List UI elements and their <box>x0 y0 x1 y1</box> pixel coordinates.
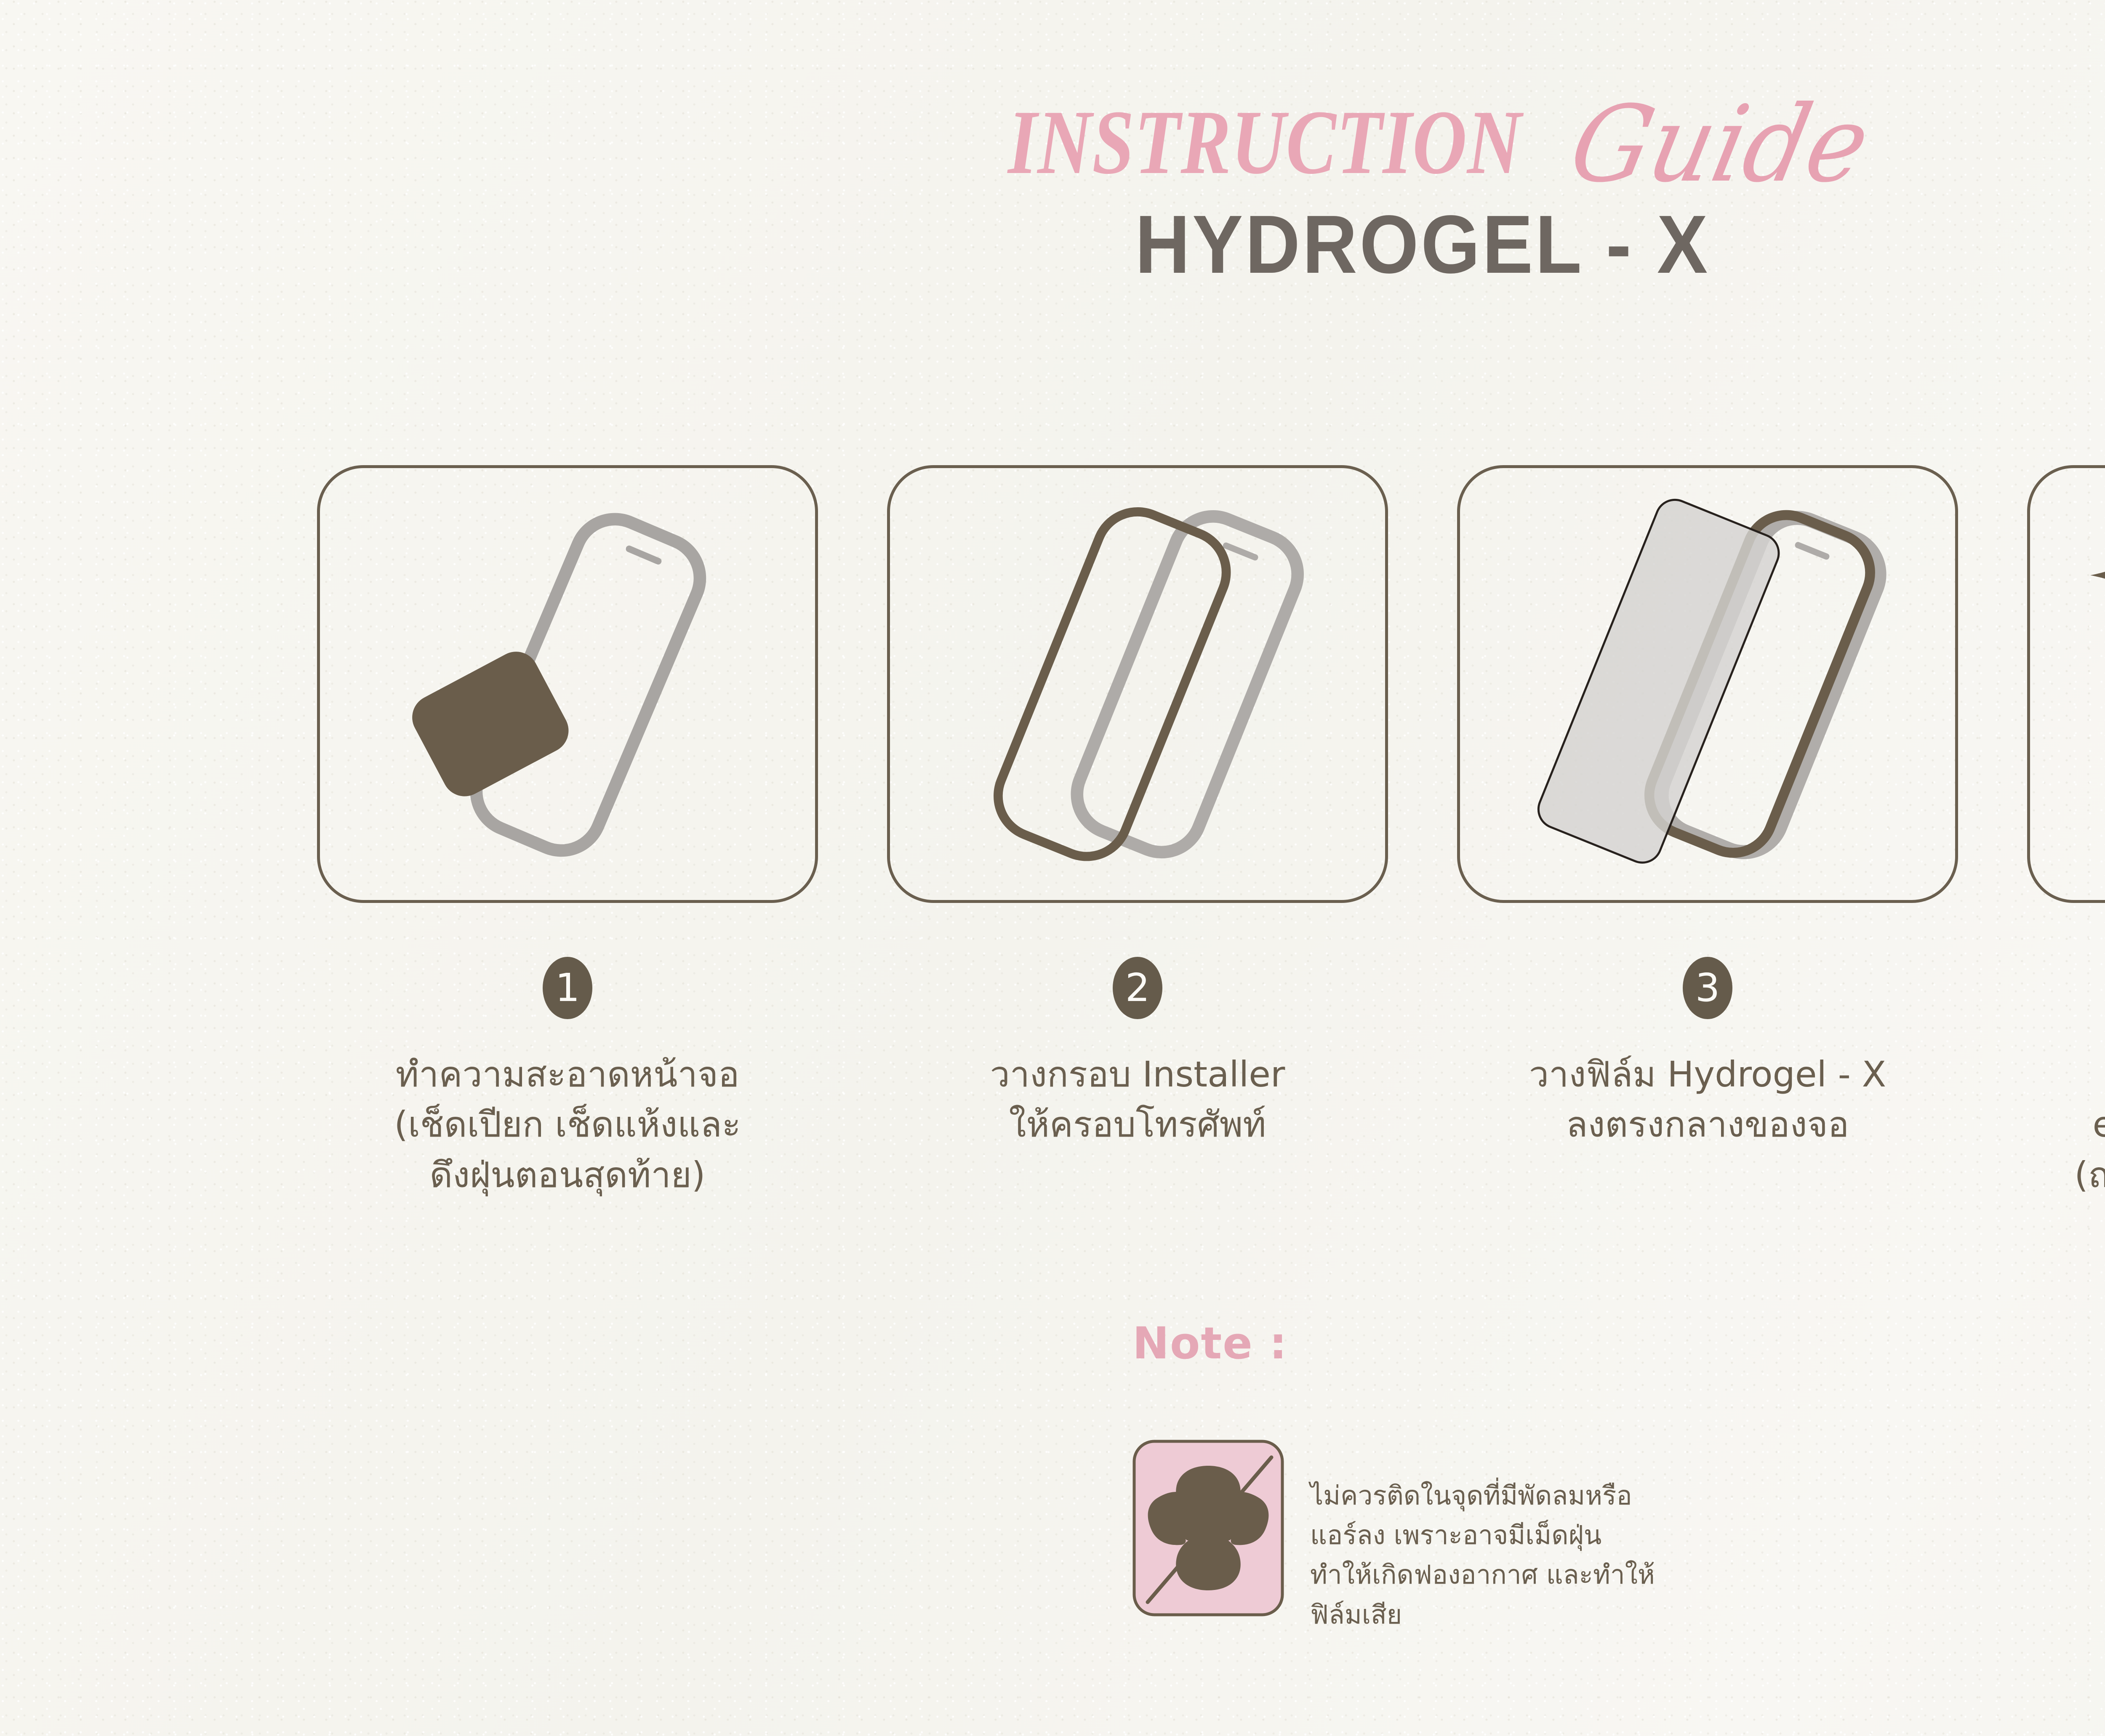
note-body: ไม่ควรติดในจุดที่มีพัดลมหรือ แอร์ลง เพรา… <box>1132 1440 1655 1635</box>
step-1-illustration-card <box>317 465 818 903</box>
step-3-illustration-card <box>1457 465 1958 903</box>
note-text-line: ฟิล์มเสีย <box>1310 1595 1655 1635</box>
step-1-caption-line: (เช็ดเปียก เช็ดแห้งและ <box>394 1100 741 1150</box>
step-3-number-badge: 3 <box>1683 957 1732 1019</box>
step-3-caption-line: ลงตรงกลางของจอ <box>1529 1100 1886 1150</box>
phone-with-cleaning-cloth-icon <box>320 468 815 900</box>
step-4-caption-line: enjoy the new world. <box>2074 1100 2105 1150</box>
instruction-guide-poster: INSTRUCTIONGuide HYDROGEL - X 1 ทำ <box>0 0 2105 1736</box>
guide-script-word: Guide <box>1562 92 1878 197</box>
step-4-caption-line: Finish! <box>2074 1049 2105 1100</box>
header-script-row: INSTRUCTIONGuide <box>0 84 2105 194</box>
note-label: Note : <box>1132 1318 1288 1369</box>
sparkle-large-icon <box>2090 514 2105 637</box>
steps-row: 1 ทำความสะอาดหน้าจอ (เช็ดเปียก เช็ดแห้งแ… <box>0 465 2105 1200</box>
step-3-caption: วางฟิล์ม Hydrogel - X ลงตรงกลางของจอ <box>1529 1049 1886 1150</box>
instruction-word: INSTRUCTION <box>1008 97 1522 189</box>
step-3-caption-line: วางฟิล์ม Hydrogel - X <box>1529 1049 1886 1100</box>
step-1-caption-line: ทำความสะอาดหน้าจอ <box>394 1049 741 1100</box>
step-4-caption-line: (ถอดกรอบ Installer ออก) <box>2074 1150 2105 1200</box>
step-2-illustration-card <box>887 465 1388 903</box>
step-2-caption-line: ให้ครอบโทรศัพท์ <box>990 1100 1285 1150</box>
step-2-caption-line: วางกรอบ Installer <box>990 1049 1285 1100</box>
step-2: 2 วางกรอบ Installer ให้ครอบโทรศัพท์ <box>887 465 1388 1200</box>
step-4-caption: Finish! enjoy the new world. (ถอดกรอบ In… <box>2074 1049 2105 1200</box>
page-header: INSTRUCTIONGuide HYDROGEL - X <box>0 84 2105 288</box>
step-4-illustration-card <box>2027 465 2105 903</box>
hydrogel-film-over-phone-icon <box>1460 468 1955 900</box>
step-1-caption: ทำความสะอาดหน้าจอ (เช็ดเปียก เช็ดแห้งและ… <box>394 1049 741 1200</box>
step-2-number-badge: 2 <box>1113 957 1162 1019</box>
step-3: 3 วางฟิล์ม Hydrogel - X ลงตรงกลางของจอ <box>1457 465 1958 1200</box>
finished-phone-with-sparkles-icon <box>2030 468 2105 900</box>
step-1-number-badge: 1 <box>543 957 592 1019</box>
note-text-line: แอร์ลง เพราะอาจมีเม็ดฝุ่น <box>1310 1515 1655 1555</box>
step-2-caption: วางกรอบ Installer ให้ครอบโทรศัพท์ <box>990 1049 1285 1150</box>
no-fan-icon <box>1132 1440 1284 1616</box>
step-1-caption-line: ดึงฝุ่นตอนสุดท้าย) <box>394 1150 741 1200</box>
page-title: HYDROGEL - X <box>114 201 2105 288</box>
step-1: 1 ทำความสะอาดหน้าจอ (เช็ดเปียก เช็ดแห้งแ… <box>317 465 818 1200</box>
note-text: ไม่ควรติดในจุดที่มีพัดลมหรือ แอร์ลง เพรา… <box>1310 1440 1655 1635</box>
note-text-line: ทำให้เกิดฟองอากาศ และทำให้ <box>1310 1555 1655 1595</box>
installer-frame-over-phone-icon <box>890 468 1385 900</box>
note-text-line: ไม่ควรติดในจุดที่มีพัดลมหรือ <box>1310 1476 1655 1515</box>
step-4: 4 Finish! enjoy the new world. (ถอดกรอบ … <box>2027 465 2105 1200</box>
